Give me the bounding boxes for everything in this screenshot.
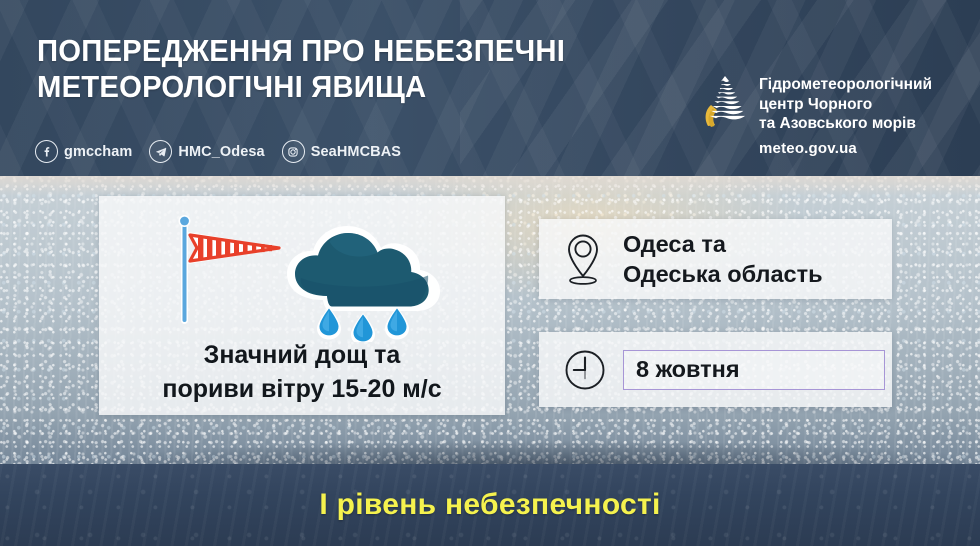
page-title-line-2: МЕТЕОРОЛОГІЧНІ ЯВИЩА (37, 69, 651, 105)
rain-cloud-icon (279, 212, 449, 342)
danger-level-text: І рівень небезпечності (319, 488, 660, 522)
phenomenon-icons (99, 210, 505, 330)
location-pin-icon (563, 232, 603, 286)
organisation-logo: Гідрометеорологічний центр Чорного та Аз… (703, 74, 932, 157)
instagram-icon (282, 140, 305, 163)
social-link-telegram[interactable]: HMC_Odesa (149, 140, 264, 163)
clock-icon (563, 348, 607, 392)
social-links: gmccham HMC_Odesa (35, 140, 401, 163)
page-title-line-1: ПОПЕРЕДЖЕННЯ ПРО НЕБЕЗПЕЧНІ (37, 33, 651, 69)
phenomenon-description: Значний дощ та пориви вітру 15-20 м/с (99, 338, 505, 406)
page-title: ПОПЕРЕДЖЕННЯ ПРО НЕБЕЗПЕЧНІ МЕТЕОРОЛОГІЧ… (37, 33, 651, 105)
location-card: Одеса та Одеська область (539, 219, 892, 299)
hydrometeorological-centre-emblem (703, 74, 747, 130)
organisation-name-line-1: Гідрометеорологічний (759, 75, 932, 95)
background-dark-ridge (0, 424, 980, 464)
organisation-name-line-3: та Азовського морів (759, 114, 932, 134)
date-card: 8 жовтня (539, 332, 892, 407)
background-horizon-band (0, 176, 980, 196)
date-input[interactable]: 8 жовтня (623, 350, 885, 390)
organisation-name: Гідрометеорологічний центр Чорного та Аз… (759, 74, 932, 157)
organisation-website[interactable]: meteo.gov.ua (759, 140, 932, 157)
phenomenon-description-line-1: Значний дощ та (99, 338, 505, 372)
telegram-icon (149, 140, 172, 163)
facebook-icon (35, 140, 58, 163)
header: ПОПЕРЕДЖЕННЯ ПРО НЕБЕЗПЕЧНІ МЕТЕОРОЛОГІЧ… (0, 0, 980, 176)
location-name-line-1: Одеса та (623, 229, 823, 259)
phenomenon-card: Значний дощ та пориви вітру 15-20 м/с (99, 196, 505, 415)
social-link-facebook[interactable]: gmccham (35, 140, 132, 163)
location-name: Одеса та Одеська область (623, 229, 823, 289)
phenomenon-description-line-2: пориви вітру 15-20 м/с (99, 372, 505, 406)
social-handle-instagram: SeaHMCBAS (311, 144, 401, 160)
location-name-line-2: Одеська область (623, 259, 823, 289)
social-handle-facebook: gmccham (64, 144, 132, 160)
social-link-instagram[interactable]: SeaHMCBAS (282, 140, 401, 163)
organisation-name-line-2: центр Чорного (759, 95, 932, 115)
weather-warning-poster: ПОПЕРЕДЖЕННЯ ПРО НЕБЕЗПЕЧНІ МЕТЕОРОЛОГІЧ… (0, 0, 980, 546)
danger-level-banner: І рівень небезпечності (0, 464, 980, 546)
social-handle-telegram: HMC_Odesa (178, 144, 264, 160)
date-value: 8 жовтня (636, 356, 740, 383)
